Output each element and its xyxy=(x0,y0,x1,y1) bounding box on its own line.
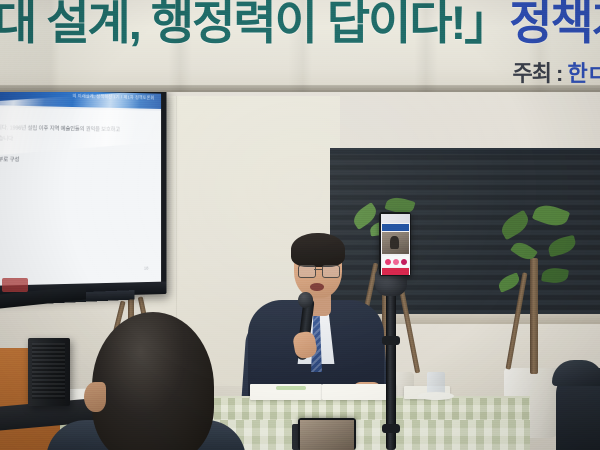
phone-status-bar xyxy=(381,214,410,223)
stream-action-bar[interactable] xyxy=(382,268,409,275)
attendee-head-back xyxy=(92,312,214,450)
tripod-adjust-knob[interactable] xyxy=(382,424,400,433)
eyeglasses-icon xyxy=(298,265,316,278)
banner-subtitle: 주최 : 한ㄷ xyxy=(512,56,600,88)
reaction-button-icon[interactable] xyxy=(393,259,399,265)
slide-line: 고 있습니다 xyxy=(0,134,157,144)
banner-headline-blue: 정책개발 xyxy=(509,0,600,49)
banner-subtitle-label: 주최 : xyxy=(512,61,562,86)
eyeglasses-icon xyxy=(322,265,340,278)
banner-bottom-edge xyxy=(0,85,600,92)
banner-subtitle-org: 한ㄷ xyxy=(568,61,600,86)
slide-surface: 의 미래설계, 정책혁신 1기 / 제1차 정책토론회 체인니다. 1996년 … xyxy=(0,89,161,286)
banner-headline-teal: 대 설계, 행정력이 답이다!」 xyxy=(0,0,509,49)
streaming-phone-screen[interactable] xyxy=(381,214,410,275)
tripod-adjust-knob[interactable] xyxy=(382,336,400,345)
speaker-hair xyxy=(291,233,345,267)
eyeglasses-bridge xyxy=(314,269,322,270)
reaction-button-icon[interactable] xyxy=(385,259,391,265)
stream-title-bar xyxy=(382,224,409,231)
slide-page-number: 18 xyxy=(144,266,149,271)
recording-phone-screen[interactable] xyxy=(300,420,354,450)
red-object xyxy=(2,278,28,292)
slide-line: 체인니다. 1996년 설립 이후 지역 예술인들의 권익을 보호하고 xyxy=(0,123,157,134)
open-binder-right-page xyxy=(322,384,396,400)
highlighter-mark xyxy=(276,386,306,390)
event-photograph: 의 미래설계, 정책혁신 1기 / 제1차 정책토론회 체인니다. 1996년 … xyxy=(0,0,600,450)
reaction-button-icon[interactable] xyxy=(401,259,407,265)
slide-line: 는 지부로 구성 xyxy=(0,155,157,164)
pa-speaker-grill xyxy=(32,343,65,399)
saucer xyxy=(418,392,454,400)
streaming-phone[interactable] xyxy=(379,212,411,276)
stream-video-subject xyxy=(390,236,399,249)
event-banner: 대 설계, 행정력이 답이다!」정책개발 주최 : 한ㄷ xyxy=(0,0,600,92)
presentation-screen: 의 미래설계, 정책혁신 1기 / 제1차 정책토론회 체인니다. 1996년 … xyxy=(0,84,166,299)
right-attendee-cap xyxy=(552,360,600,386)
slide-header-text: 의 미래설계, 정책혁신 1기 / 제1차 정책토론회 xyxy=(73,93,155,101)
slide-line: 협회 xyxy=(0,176,157,184)
slide-header-bar: 의 미래설계, 정책혁신 1기 / 제1차 정책토론회 xyxy=(0,89,161,109)
slide-body: 체인니다. 1996년 설립 이후 지역 예술인들의 권익을 보호하고 고 있습… xyxy=(0,107,161,286)
banner-headline: 대 설계, 행정력이 답이다!」정책개발 xyxy=(0,0,600,47)
speaker-mouth xyxy=(310,283,324,291)
attendee-ear xyxy=(84,382,106,412)
